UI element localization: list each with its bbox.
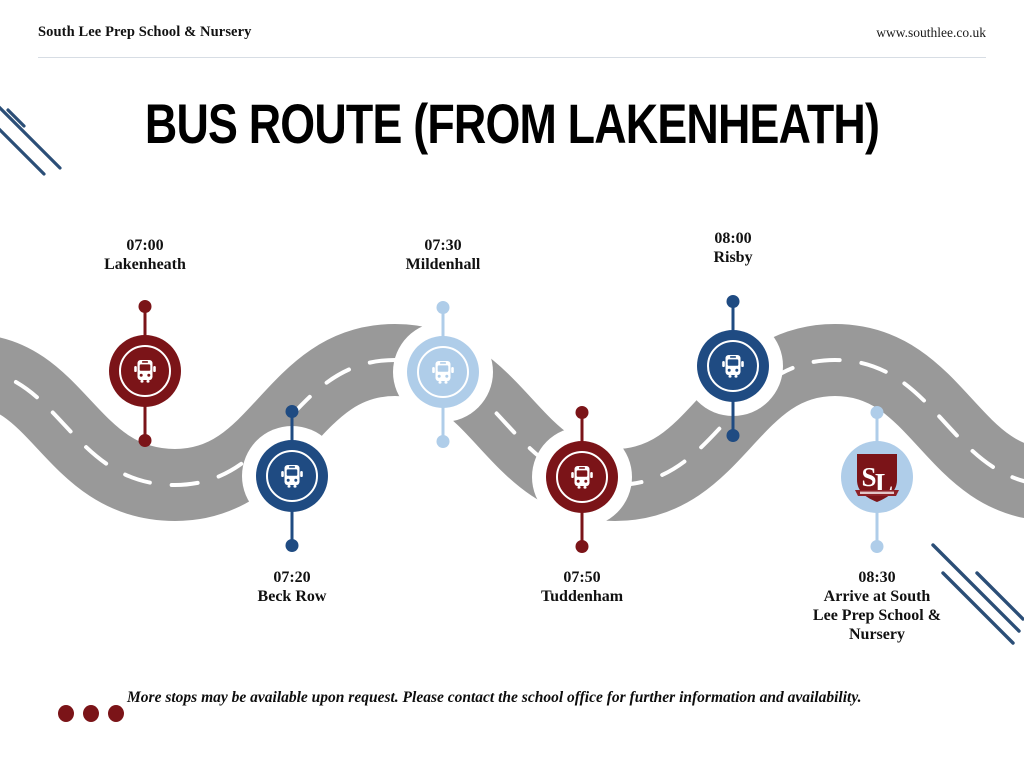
bus-icon[interactable] (546, 441, 618, 513)
school-crest-icon[interactable]: S L (841, 441, 913, 513)
stop-label-mildenhall: 07:30 Mildenhall (406, 236, 481, 274)
stop-time: 07:20 (258, 568, 327, 587)
stop-label-arrival: 08:30 Arrive at South Lee Prep School & … (810, 568, 945, 644)
page-title: BUS ROUTE (FROM LAKENHEATH) (102, 94, 921, 154)
pin-dot-top (871, 406, 884, 419)
pin-dot-bottom (576, 540, 589, 553)
pin-dot-top (286, 405, 299, 418)
footer-dot (108, 705, 124, 722)
pin-dot-bottom (727, 429, 740, 442)
footer-dot (83, 705, 99, 722)
stop-label-risby: 08:00 Risby (713, 229, 752, 267)
pin-dot-top (576, 406, 589, 419)
slide-header: South Lee Prep School & Nursery www.sout… (0, 0, 1024, 58)
stop-time: 08:00 (713, 229, 752, 248)
bus-icon[interactable] (407, 336, 479, 408)
pin-dot-top (139, 300, 152, 313)
slide-canvas: South Lee Prep School & Nursery www.sout… (0, 0, 1024, 768)
stop-time: 07:00 (104, 236, 186, 255)
stop-place: Arrive at South Lee Prep School & Nurser… (810, 587, 945, 644)
decorative-lines-top-left (0, 100, 84, 195)
bus-icon[interactable] (697, 330, 769, 402)
header-website-url: www.southlee.co.uk (876, 25, 986, 41)
stop-label-beck-row: 07:20 Beck Row (258, 568, 327, 606)
stop-place: Risby (713, 248, 752, 267)
slide-footer: More stops may be available upon request… (0, 683, 1024, 743)
pin-dot-bottom (871, 540, 884, 553)
footer-dot (58, 705, 74, 722)
footer-note: More stops may be available upon request… (127, 688, 932, 707)
stop-time: 07:30 (406, 236, 481, 255)
pin-dot-bottom (286, 539, 299, 552)
stop-time: 08:30 (810, 568, 945, 587)
pin-dot-bottom (437, 435, 450, 448)
header-school-name: South Lee Prep School & Nursery (38, 24, 251, 41)
pin-dot-top (727, 295, 740, 308)
stop-place: Lakenheath (104, 255, 186, 274)
stop-place: Mildenhall (406, 255, 481, 274)
pin-dot-top (437, 301, 450, 314)
bus-icon[interactable] (109, 335, 181, 407)
bus-icon[interactable] (256, 440, 328, 512)
pin-dot-bottom (139, 434, 152, 447)
header-divider (38, 57, 986, 58)
stop-time: 07:50 (541, 568, 623, 587)
stop-label-lakenheath: 07:00 Lakenheath (104, 236, 186, 274)
stop-label-tuddenham: 07:50 Tuddenham (541, 568, 623, 606)
stop-place: Beck Row (258, 587, 327, 606)
footer-dots-decoration (58, 705, 124, 722)
stop-place: Tuddenham (541, 587, 623, 606)
